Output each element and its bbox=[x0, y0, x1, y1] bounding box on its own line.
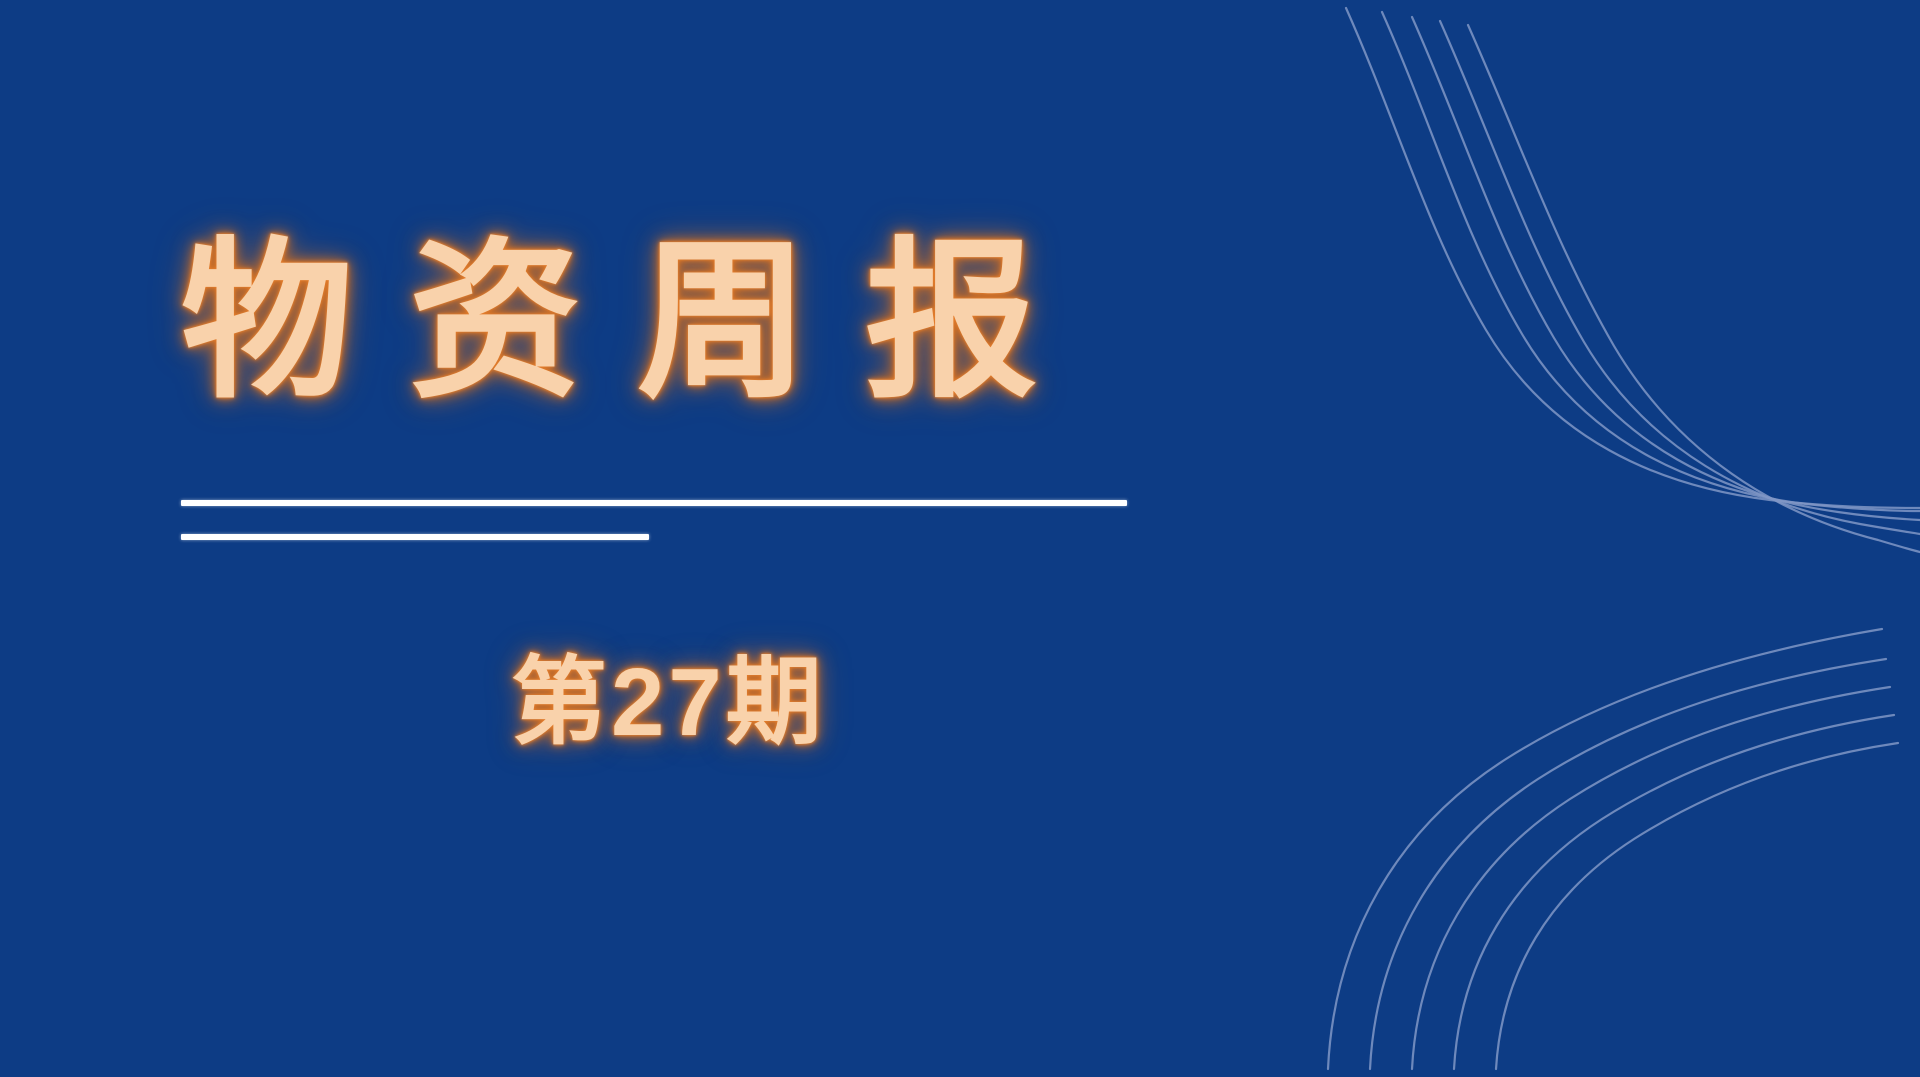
title-rule-long bbox=[181, 500, 1127, 506]
arc-line-2 bbox=[1370, 659, 1886, 1069]
arc-line-5 bbox=[1496, 743, 1898, 1069]
page-subtitle: 第27期 bbox=[511, 645, 826, 760]
page-title: 物资周报 bbox=[181, 236, 1181, 408]
curve-line-4 bbox=[1440, 21, 1920, 534]
arc-line-3 bbox=[1412, 687, 1890, 1069]
title-block: 物资周报 bbox=[181, 236, 1181, 408]
curve-line-1 bbox=[1346, 8, 1920, 508]
curve-line-5 bbox=[1468, 25, 1920, 552]
title-rule-short bbox=[181, 534, 649, 540]
arc-line-4 bbox=[1454, 715, 1894, 1069]
top-right-curves-decoration bbox=[1300, 0, 1920, 580]
curve-line-3 bbox=[1412, 17, 1920, 520]
curve-line-2 bbox=[1382, 12, 1920, 511]
bottom-right-curves-decoration bbox=[1270, 617, 1920, 1077]
cover-slide: 物资周报 第27期 bbox=[0, 0, 1920, 1077]
arc-line-1 bbox=[1328, 629, 1882, 1069]
